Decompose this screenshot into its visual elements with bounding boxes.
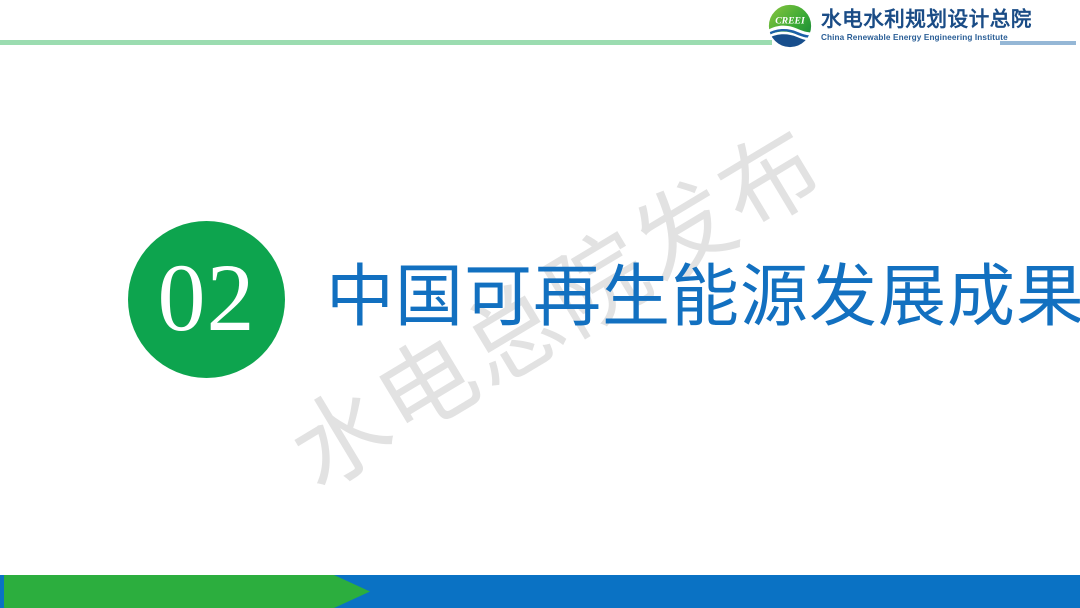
page-title: 中国可再生能源发展成果 bbox=[326, 263, 1080, 331]
footer-bar-green-chevron bbox=[4, 575, 370, 608]
section-number-badge: 02 bbox=[128, 221, 285, 378]
organization-name-cn: 水电水利规划设计总院 bbox=[821, 10, 1032, 31]
slide-canvas: CREEI 水电水利规划设计总院 China Renewable Energy … bbox=[0, 0, 1080, 608]
logo-monogram-text: CREEI bbox=[775, 15, 806, 26]
header-rule-green bbox=[0, 40, 772, 45]
organization-name-en: China Renewable Energy Engineering Insti… bbox=[821, 34, 1032, 42]
creei-circular-logo-icon: CREEI bbox=[768, 4, 812, 48]
brand-text-block: 水电水利规划设计总院 China Renewable Energy Engine… bbox=[821, 10, 1032, 42]
section-number-label: 02 bbox=[158, 250, 256, 346]
footer-bar-left-edge-accent bbox=[0, 575, 4, 608]
footer-bar bbox=[0, 575, 1080, 608]
brand-block: CREEI 水电水利规划设计总院 China Renewable Energy … bbox=[768, 4, 1032, 48]
